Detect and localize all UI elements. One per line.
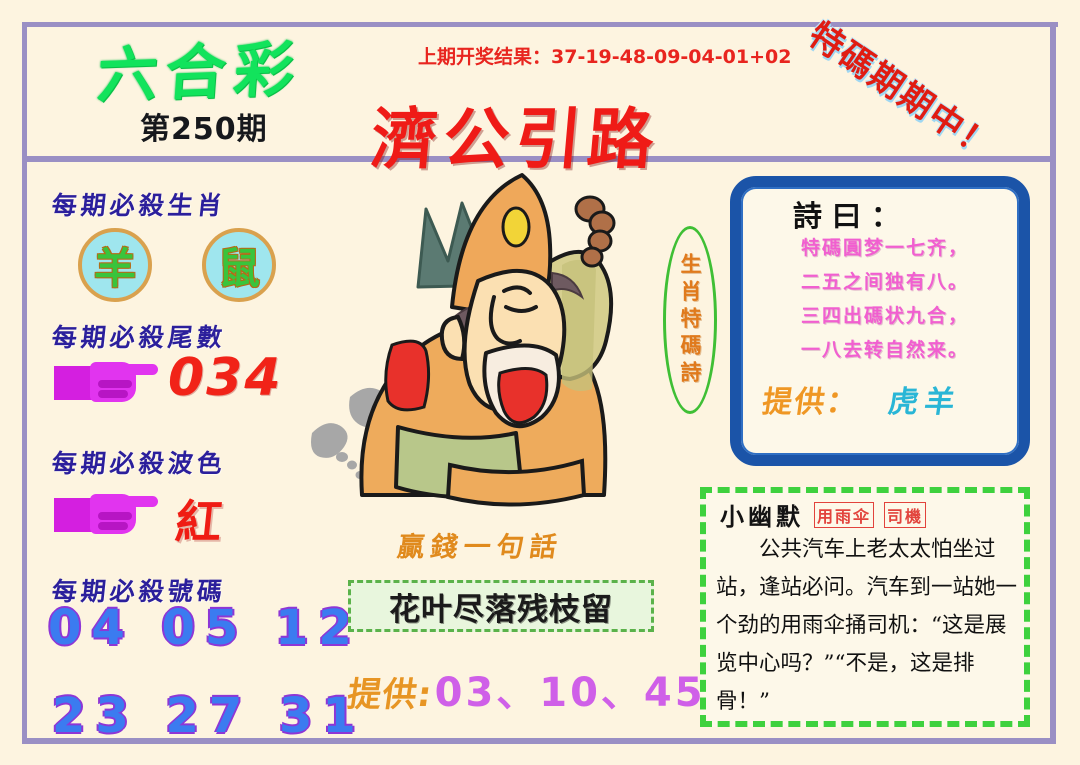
kill-tail-value: 034	[168, 348, 283, 408]
zodiac-circle-1: 羊	[78, 228, 152, 302]
win-phrase-box: 花叶尽落残枝留	[348, 580, 654, 632]
joke-header: 小幽默 用雨伞 司機	[720, 497, 926, 532]
poem-heading: 詩曰：	[793, 193, 910, 235]
poem-credit-label: 提供：	[760, 377, 862, 421]
poem-lines: 特碼圓梦一七齐， 二五之间独有八。 三四出碼状九合， 一八去转自然来。	[757, 231, 1013, 367]
pointing-hand-icon	[54, 360, 158, 404]
poem-line-4: 一八去转自然来。	[757, 333, 1013, 367]
win-phrase-title: 贏錢一句話	[395, 525, 565, 564]
poem-credit: 提供： 虎羊	[763, 377, 961, 421]
joke-tag-2: 司機	[884, 502, 926, 528]
issue-number: 第250期	[140, 104, 268, 148]
poem-line-1: 特碼圓梦一七齐，	[757, 231, 1013, 265]
poster-canvas: 六合彩 第250期 上期开奖结果：37-19-48-09-04-01+02 濟公…	[0, 0, 1080, 765]
kill-color-label: 每期必殺波色	[50, 444, 228, 480]
zodiac-poem-tag-label: 生肖特碼詩	[675, 253, 705, 388]
monk-cartoon-illustration	[300, 165, 660, 510]
joke-tag-1: 用雨伞	[814, 502, 874, 528]
joke-title: 小幽默	[720, 497, 804, 532]
center-supply-numbers: 03、10、45	[435, 660, 706, 718]
poem-line-3: 三四出碼状九合，	[757, 299, 1013, 333]
kill-color-value: 紅	[173, 486, 226, 552]
kill-number-row-2: 23 27 31	[52, 688, 366, 744]
poster-frame-right	[1050, 22, 1056, 744]
poem-box: 詩曰： 特碼圓梦一七齐， 二五之间独有八。 三四出碼状九合， 一八去转自然来。 …	[730, 176, 1030, 466]
joke-body: 公共汽车上老太太怕坐过站，逢站必问。汽车到一站她一个劲的用雨伞捅司机：“这是展览…	[716, 531, 1021, 721]
pointing-hand-icon-2	[54, 492, 158, 536]
win-phrase-text: 花叶尽落残枝留	[389, 584, 613, 629]
joke-box: 小幽默 用雨伞 司機 公共汽车上老太太怕坐过站，逢站必问。汽车到一站她一个劲的用…	[700, 487, 1030, 727]
last-draw-result: 上期开奖结果：37-19-48-09-04-01+02	[418, 42, 791, 69]
poem-credit-value: 虎羊	[886, 377, 964, 421]
zodiac-circle-2: 鼠	[202, 228, 276, 302]
center-supply-label: 提供:	[345, 667, 436, 716]
poem-line-2: 二五之间独有八。	[757, 265, 1013, 299]
kill-number-row-1: 04 05 12	[48, 600, 362, 656]
zodiac-poem-tag: 生肖特碼詩	[663, 226, 717, 414]
site-logo: 六合彩	[95, 20, 306, 114]
kill-zodiac-label: 每期必殺生肖	[50, 186, 228, 222]
center-supply-line: 提供: 03、10、45	[348, 660, 706, 718]
